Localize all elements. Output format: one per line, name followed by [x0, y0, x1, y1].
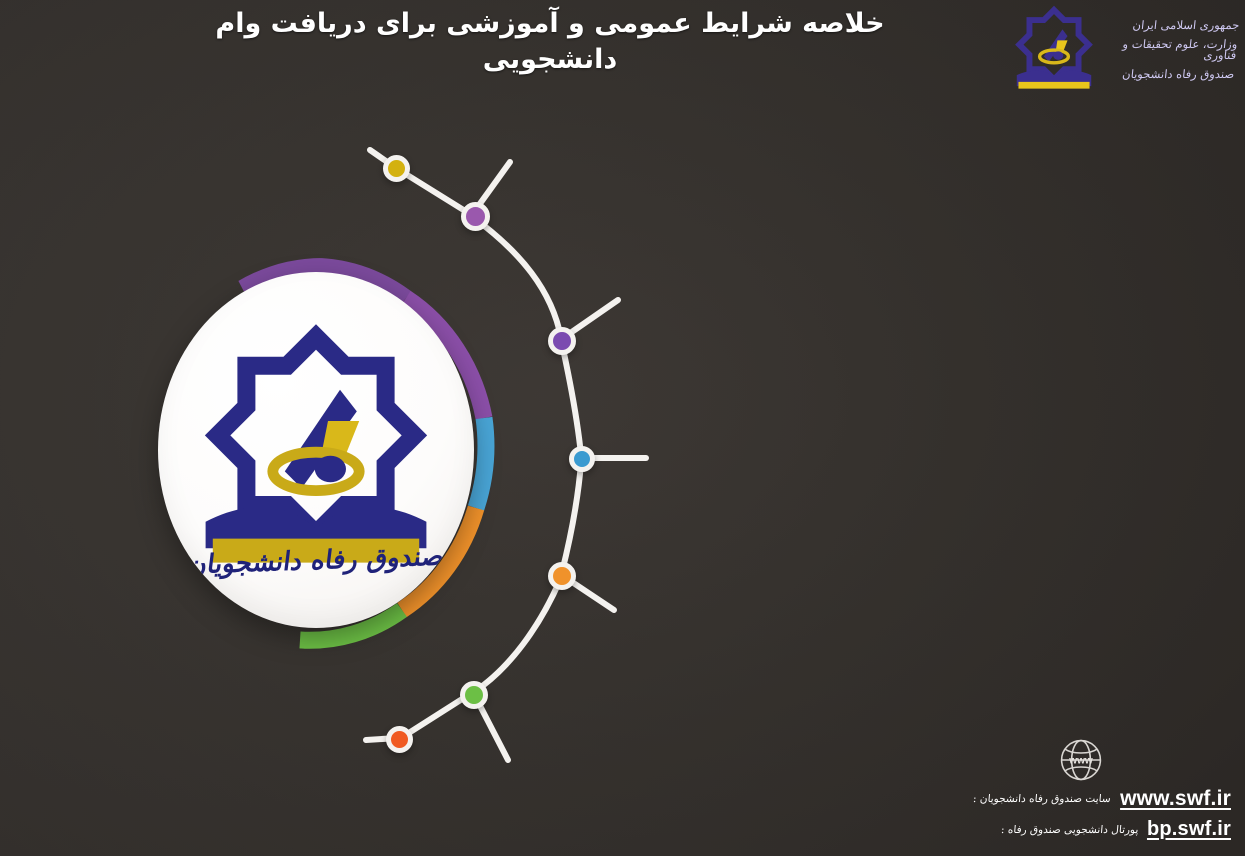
footer-url-1[interactable]: www.swf.ir [1120, 787, 1231, 811]
footer-links: www www.swf.ir سایت صندوق رفاه دانشجویان… [931, 737, 1231, 848]
connector-dot-3 [548, 327, 576, 355]
swf-emblem-small [1011, 4, 1097, 92]
center-logo-disc: صندوق رفاه دانشجویان [158, 272, 474, 628]
footer-url-2[interactable]: bp.swf.ir [1147, 818, 1231, 841]
org-line-2: وزارت، علوم تحقیقات و فناوری [1100, 39, 1238, 62]
footer-label-1: سایت صندوق رفاه دانشجویان : [973, 793, 1112, 805]
footer-label-2: پورتال دانشجویی صندوق رفاه : [1000, 824, 1138, 836]
footer-link-row-2[interactable]: bp.swf.ir پورتال دانشجویی صندوق رفاه : [931, 818, 1231, 841]
www-globe-icon: www [1058, 737, 1104, 783]
center-logo: صندوق رفاه دانشجویان [144, 258, 500, 650]
connector-dot-2 [461, 202, 490, 231]
swf-emblem-large [196, 320, 436, 570]
connector-dot-7 [386, 726, 413, 753]
connector-dot-1 [383, 155, 410, 182]
connector-dot-6 [460, 681, 488, 709]
org-line-1: جمهوری اسلامی ایران [1103, 20, 1240, 32]
infographic-canvas: خلاصه شرایط عمومی و آموزشی برای دریافت و… [0, 0, 1245, 856]
svg-text:www: www [1068, 756, 1093, 767]
ministry-logo-text: جمهوری اسلامی ایران وزارت، علوم تحقیقات … [1098, 16, 1241, 80]
ministry-logo-header: جمهوری اسلامی ایران وزارت، علوم تحقیقات … [1011, 2, 1237, 94]
footer-link-row-1[interactable]: www.swf.ir سایت صندوق رفاه دانشجویان : [931, 787, 1231, 811]
connector-dot-5 [548, 562, 576, 590]
page-title: خلاصه شرایط عمومی و آموزشی برای دریافت و… [150, 6, 950, 77]
org-line-3: صندوق رفاه دانشجویان [1098, 69, 1235, 81]
connector-dot-4 [569, 446, 595, 472]
